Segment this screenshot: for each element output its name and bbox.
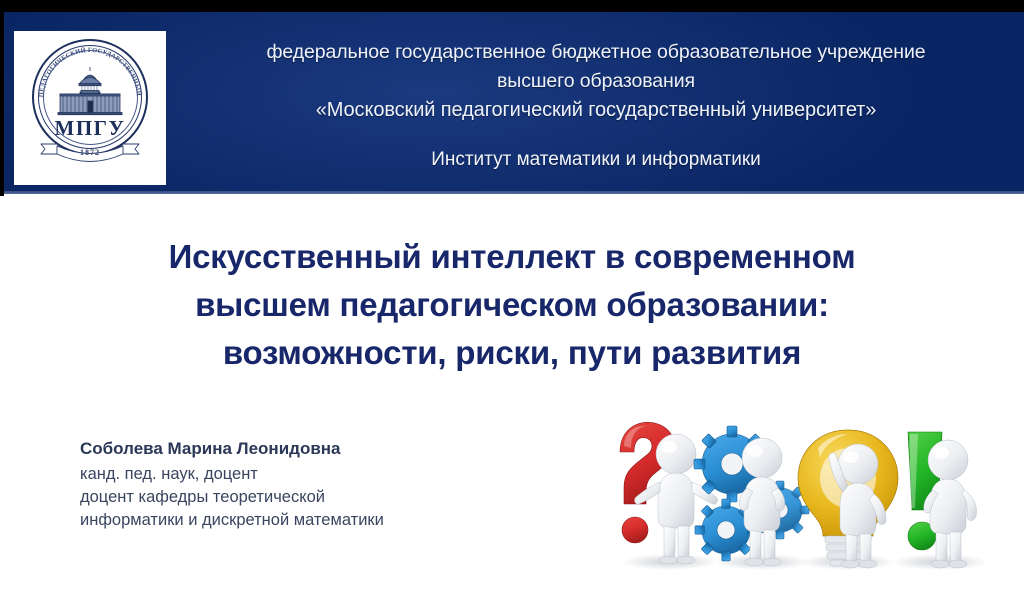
mpgu-seal-icon: МОСКОВСКИЙ ПЕДАГОГИЧЕСКИЙ ГОСУДАРСТВЕННЫ… [23, 38, 157, 178]
top-bezel [0, 0, 1024, 12]
title-line-2: высшем педагогическом образовании: [0, 281, 1024, 329]
header-band: МОСКОВСКИЙ ПЕДАГОГИЧЕСКИЙ ГОСУДАРСТВЕННЫ… [4, 12, 1024, 194]
author-block: Соболева Марина Леонидовна канд. пед. на… [80, 437, 550, 532]
people-ideas-illustration [590, 412, 1010, 590]
header-text-block: федеральное государственное бюджетное об… [176, 38, 1016, 173]
title-line-1: Искусственный интеллект в современном [0, 233, 1024, 281]
seal-abbreviation: МПГУ [23, 118, 157, 139]
seal-building-icon [55, 65, 125, 117]
mpgu-logo-box: МОСКОВСКИЙ ПЕДАГОГИЧЕСКИЙ ГОСУДАРСТВЕННЫ… [14, 31, 166, 185]
author-position-line-1: доцент кафедры теоретической [80, 486, 550, 509]
illustration-svg [590, 412, 1010, 590]
header-line-1: федеральное государственное бюджетное об… [176, 38, 1016, 67]
figure-4 [924, 440, 977, 568]
presentation-title-slide: МОСКОВСКИЙ ПЕДАГОГИЧЕСКИЙ ГОСУДАРСТВЕННЫ… [0, 0, 1024, 598]
seal-year: 1872 [23, 148, 157, 157]
institute-name: Институт математики и информатики [176, 147, 1016, 173]
header-line-3: «Московский педагогический государственн… [176, 96, 1016, 125]
header-line-2: высшего образования [176, 67, 1016, 96]
title-line-3: возможности, риски, пути развития [0, 329, 1024, 377]
author-position-line-2: информатики и дискретной математики [80, 509, 550, 532]
author-degree: канд. пед. наук, доцент [80, 463, 550, 486]
page-title: Искусственный интеллект в современном вы… [0, 233, 1024, 377]
author-name: Соболева Марина Леонидовна [80, 437, 550, 461]
